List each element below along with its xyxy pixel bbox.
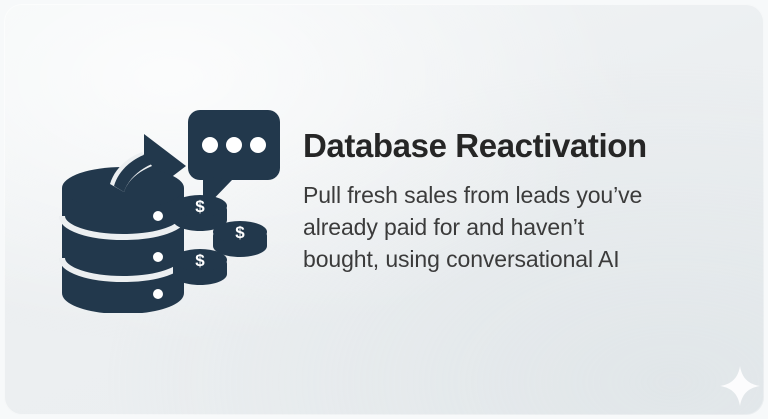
svg-text:$: $ <box>195 197 205 216</box>
database-reactivation-icon: $ $ $ <box>40 88 290 313</box>
page-title: Database Reactivation <box>303 126 723 166</box>
svg-text:$: $ <box>235 223 245 242</box>
text-block: Database Reactivation Pull fresh sales f… <box>303 126 723 275</box>
description-line-1: Pull fresh sales from leads you’ve <box>303 179 723 211</box>
slide-canvas: $ $ $ <box>0 0 768 419</box>
sparkle-icon <box>718 364 762 408</box>
card-content: $ $ $ <box>0 0 768 419</box>
description: Pull fresh sales from leads you’ve alrea… <box>303 179 723 275</box>
description-line-3: bought, using conversational AI <box>303 243 723 275</box>
description-line-2: already paid for and haven’t <box>303 211 723 243</box>
svg-text:$: $ <box>195 251 205 270</box>
